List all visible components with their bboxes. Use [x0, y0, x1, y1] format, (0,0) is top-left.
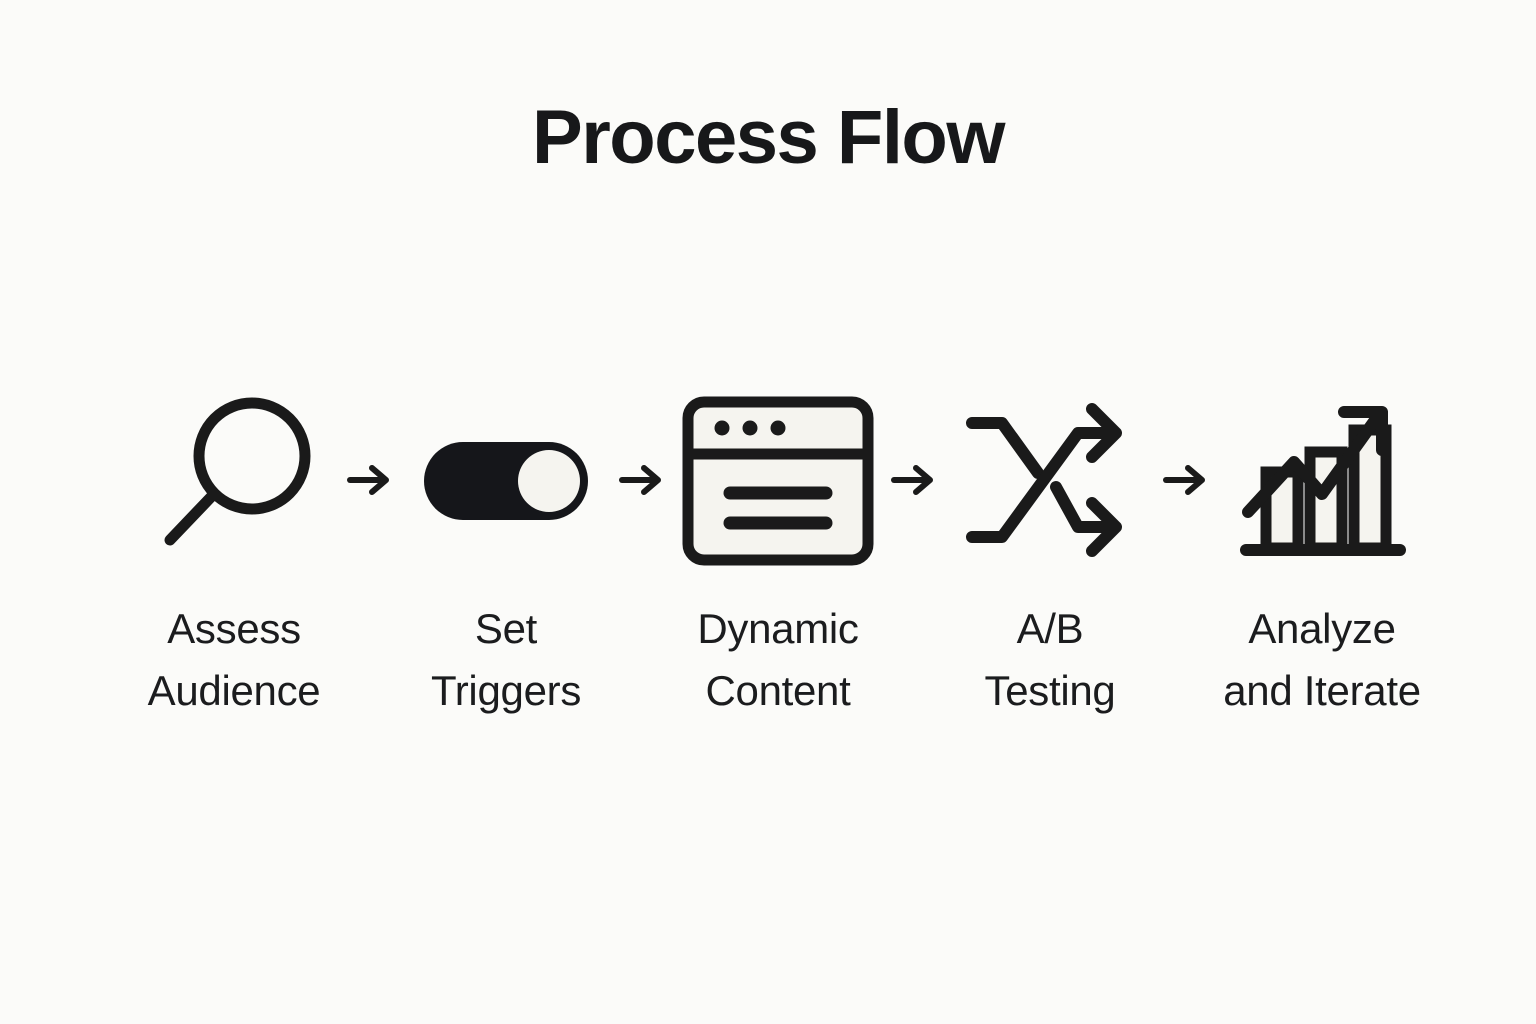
flow-step-label: Dynamic Content	[697, 598, 858, 722]
flow-step-label: Assess Audience	[148, 598, 321, 722]
flow-step-icon-container	[416, 380, 596, 580]
flow-step-ab-testing[interactable]: A/B Testing	[945, 380, 1155, 722]
flow-step-assess-audience[interactable]: Assess Audience	[129, 380, 339, 722]
flow-step-set-triggers[interactable]: Set Triggers	[401, 380, 611, 722]
flow-step-analyze-iterate[interactable]: Analyze and Iterate	[1217, 380, 1427, 722]
process-flow-diagram: Assess Audience Set Triggers	[78, 380, 1478, 722]
flow-step-icon-container	[678, 380, 878, 580]
flow-step-label: Set Triggers	[431, 598, 581, 722]
magnifier-icon	[144, 390, 324, 570]
flow-step-label: Analyze and Iterate	[1223, 598, 1421, 722]
arrow-right-icon	[891, 463, 937, 497]
browser-window-icon	[678, 390, 878, 570]
flow-step-icon-container	[1232, 380, 1412, 580]
flow-connector-2	[611, 380, 673, 580]
flow-step-dynamic-content[interactable]: Dynamic Content	[673, 380, 883, 722]
arrow-right-icon	[347, 463, 393, 497]
process-flow-page: Process Flow Assess Audience	[0, 0, 1536, 1024]
toggle-switch-on-icon	[416, 420, 596, 540]
page-title: Process Flow	[0, 96, 1536, 180]
shuffle-icon	[960, 395, 1140, 565]
flow-step-icon-container	[960, 380, 1140, 580]
flow-step-icon-container	[144, 380, 324, 580]
flow-connector-3	[883, 380, 945, 580]
growth-chart-icon	[1232, 390, 1412, 570]
arrow-right-icon	[1163, 463, 1209, 497]
arrow-right-icon	[619, 463, 665, 497]
flow-connector-1	[339, 380, 401, 580]
flow-connector-4	[1155, 380, 1217, 580]
flow-step-label: A/B Testing	[985, 598, 1116, 722]
